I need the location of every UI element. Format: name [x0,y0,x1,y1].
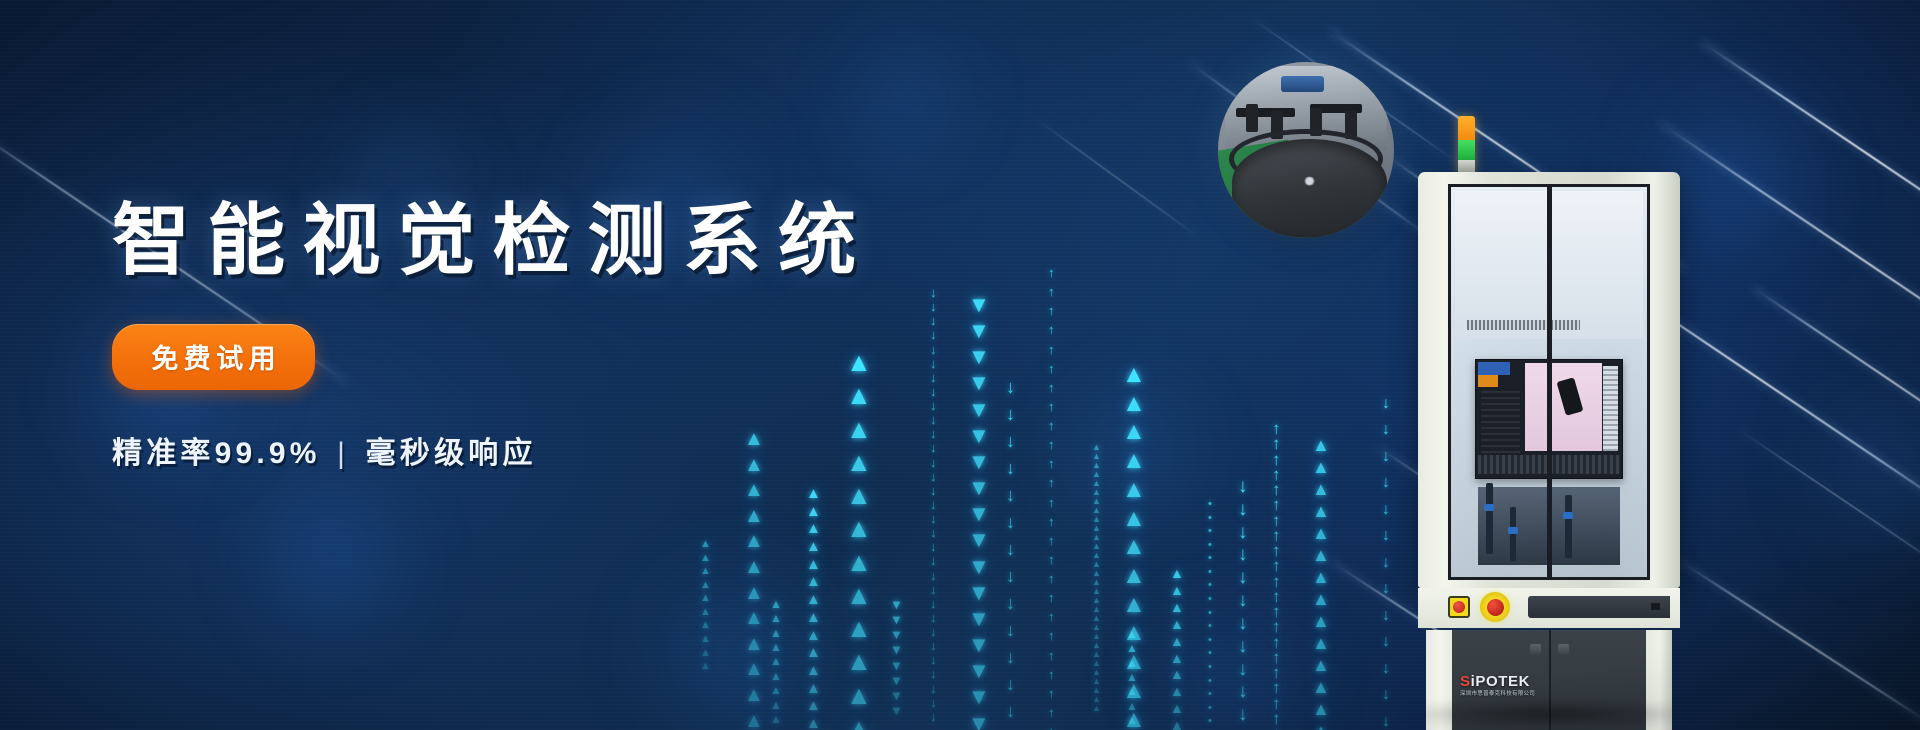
arrow-column-14: ▲▲▲▲▲▲▲▲ [1126,630,1138,730]
arrow-glyph: ↓ [1238,594,1248,609]
monitor-toolbar [1478,375,1499,387]
glow-blob-1 [232,478,432,642]
arrow-glyph: ▲ [806,647,821,659]
arrow-glyph: ▲ [1122,423,1146,442]
arrow-glyph: ↓ [930,500,937,510]
camera-arm-left [1486,483,1493,553]
arrow-glyph: ▲ [700,540,711,549]
brand-initial: S [1460,673,1471,690]
light-streak-6 [1659,122,1920,403]
arrow-glyph: ↑ [1272,575,1281,588]
rotary-station-inset-photo [1218,62,1394,238]
arrow-glyph: ↓ [930,712,937,722]
arrow-glyph: ▲ [744,509,764,525]
arrow-glyph: ▲ [1092,606,1101,613]
arrow-glyph: ▲ [1312,548,1330,562]
arrow-glyph: • [1208,690,1212,699]
arrow-glyph: ▼ [890,676,903,686]
arrow-glyph: ▲ [1312,592,1330,606]
machine-ground-shadow [1400,700,1700,728]
monitor-image-view [1525,363,1601,451]
arrow-glyph: ↑ [1048,498,1055,508]
arrow-glyph: ↑ [1048,287,1055,297]
arrow-glyph: ▲ [1312,702,1330,716]
arrow-glyph: ▼ [968,584,990,601]
arrow-glyph: ▲ [770,629,782,638]
arrow-glyph: ▲ [846,685,872,705]
arrow-glyph: ↑ [1272,666,1281,679]
arrow-glyph: ▲ [846,651,872,671]
arrow-glyph: ▲ [806,718,821,730]
arrow-glyph: ▲ [1170,602,1184,613]
arrow-glyph: ▲ [806,630,821,642]
glow-blob-8 [1780,380,1920,560]
arrow-glyph: ▲ [744,560,764,576]
brand-company-name: 深圳市思普泰克科技有限公司 [1460,692,1610,698]
arrow-glyph: ▲ [700,635,711,644]
arrow-glyph: ▲ [1170,636,1184,647]
panel-card-slot [1528,596,1670,618]
arrow-glyph: ▲ [1092,561,1101,568]
camera-arm-mid [1510,507,1516,562]
arrow-glyph: ↑ [1272,468,1281,481]
arrow-glyph: ↑ [1272,453,1281,466]
arrow-glyph: ▲ [1092,642,1101,649]
arrow-glyph: ↓ [1006,542,1015,556]
arrow-glyph: ↓ [1006,623,1015,637]
arrow-glyph: ▲ [700,567,711,576]
arrow-glyph: ↓ [1006,515,1015,529]
inset-photo-content [1218,62,1394,238]
arrow-glyph: ▲ [1092,705,1101,712]
arrow-glyph: ↓ [1382,424,1390,436]
arrow-glyph: ↑ [1272,544,1281,557]
arrow-glyph: ↑ [1272,437,1281,450]
arrow-glyph: ↑ [1272,483,1281,496]
arrow-glyph: ▲ [806,576,821,588]
arrow-glyph: ↓ [930,613,937,623]
arrow-glyph: ▲ [1126,687,1138,696]
arrow-glyph: ▲ [1122,624,1146,643]
arrow-glyph: ↓ [1382,689,1390,701]
tagline: 精准率99.9%|毫秒级响应 [112,428,1012,472]
arrow-glyph: ▲ [1312,460,1330,474]
arrow-glyph: ↓ [1382,663,1390,675]
arrow-glyph: ↓ [930,684,937,694]
arrow-glyph: ▲ [1312,614,1330,628]
arrow-glyph: ▲ [1092,687,1101,694]
arrow-glyph: ▲ [846,718,872,730]
tagline-accuracy: 精准率99.9% [112,437,321,470]
arrow-glyph: ▼ [890,661,903,671]
arrow-glyph: • [1208,500,1212,509]
arrow-glyph: ▲ [806,594,821,606]
arrow-glyph: ▲ [1092,462,1101,469]
arrow-glyph: ↓ [1006,677,1015,691]
arrow-column-10: ↓↓↓↓↓↓↓↓↓↓↓↓↓↓↓↓ [1238,480,1248,730]
arrow-glyph: ↑ [1048,689,1055,699]
arrow-glyph: ▲ [1092,552,1101,559]
arrow-column-13: ↓↓↓↓↓↓↓↓↓↓↓↓↓↓ [1382,398,1390,730]
arrow-glyph: ▲ [1092,696,1101,703]
arrow-glyph: ↓ [1006,596,1015,610]
arrow-glyph: ▲ [806,541,821,553]
arrow-glyph: • [1208,554,1212,563]
arrow-glyph: ▲ [1126,644,1138,653]
arrow-glyph: ↓ [1006,704,1015,718]
arrow-glyph: ▼ [968,715,990,730]
arrow-glyph: ▲ [1126,630,1138,639]
arrow-glyph: ▲ [806,559,821,571]
arrow-glyph: ▲ [846,585,872,605]
glow-blob-5 [1042,376,1222,524]
light-streak-12 [1038,120,1201,239]
arrow-glyph: ↑ [1048,651,1055,661]
arrow-glyph: ▲ [1126,702,1138,711]
arrow-glyph: ↓ [1006,488,1015,502]
arrow-glyph: ▲ [1092,489,1101,496]
arrow-glyph: ↑ [1048,421,1055,431]
cabinet-lock-left[interactable] [1530,644,1541,654]
arrow-glyph: ↑ [1272,514,1281,527]
arrow-glyph: ▲ [1126,673,1138,682]
arrow-glyph: • [1208,622,1212,631]
arrow-glyph: ↓ [930,669,937,679]
arrow-glyph: ↑ [1048,306,1055,316]
arrow-glyph: ▲ [846,552,872,572]
arrow-glyph: ▲ [1312,504,1330,518]
arrow-glyph: ▲ [1312,526,1330,540]
arrow-glyph: ▲ [846,485,872,505]
hero-copy: 智能视觉检测系统 免费试用 精准率99.9%|毫秒级响应 [112,178,1012,472]
arrow-glyph: • [1208,717,1212,726]
arrow-glyph: ↓ [1238,640,1248,655]
arrow-glyph: ▲ [1092,678,1101,685]
arrow-glyph: ▲ [1312,482,1330,496]
arrow-glyph: ▲ [806,506,821,518]
stack-light-green [1458,140,1475,160]
arrow-glyph: ▲ [744,586,764,602]
arrow-glyph: ▲ [1092,480,1101,487]
arrow-glyph: ▲ [1170,686,1184,697]
brand-wordmark: SiPOTEK [1460,674,1610,689]
arrow-glyph: ↓ [1382,477,1390,489]
cabinet-lock-right[interactable] [1558,644,1569,654]
arrow-glyph: ↓ [1238,617,1248,632]
arrow-glyph: ↑ [1048,593,1055,603]
arrow-glyph: ▼ [890,615,903,625]
arrow-glyph: ▲ [700,608,711,617]
arrow-glyph: ▼ [968,558,990,575]
arrow-glyph: ▲ [1092,579,1101,586]
arrow-column-11: ↑↑↑↑↑↑↑↑↑↑↑↑↑↑↑↑↑↑↑↑↑↑↑↑↑↑ [1272,422,1281,730]
arrow-glyph: ▼ [890,706,903,716]
arrow-glyph: ↓ [1238,571,1248,586]
arrow-glyph: ↓ [930,585,937,595]
arrow-glyph: ↑ [1048,555,1055,565]
arrow-glyph: ▲ [1092,534,1101,541]
monitor-result-panel [1603,366,1618,452]
arrow-glyph: • [1208,568,1212,577]
arrow-glyph: ▲ [1122,653,1146,672]
arrow-glyph: ▼ [890,600,903,610]
arrow-glyph: ↓ [1238,526,1248,541]
arrow-glyph: ▲ [1170,568,1184,579]
arrow-glyph: ▲ [744,637,764,653]
arrow-glyph: ▲ [1170,720,1184,730]
arrow-glyph: ▲ [1092,570,1101,577]
fitting-cap-a [1484,504,1494,511]
interior-vent-strip [1467,320,1581,330]
arrow-glyph: ↓ [1382,530,1390,542]
arrow-glyph: ▲ [1312,724,1330,730]
arrow-glyph: ↓ [930,641,937,651]
arrow-glyph: ▲ [1092,453,1101,460]
arrow-glyph: ↑ [1272,651,1281,664]
arrow-glyph: ↑ [1048,612,1055,622]
arrow-glyph: ↑ [1048,345,1055,355]
arrow-glyph: ↓ [1238,708,1248,723]
arrow-glyph: ▼ [890,630,903,640]
arrow-glyph: ▲ [1122,567,1146,586]
arrow-glyph: ▼ [890,645,903,655]
arrow-column-0: ▲▲▲▲▲▲▲▲▲▲▲▲▲▲ [806,488,821,730]
vision-inspection-machine: SiPOTEK 深圳市思普泰克科技有限公司 [1418,148,1680,730]
hero-banner: ▲▲▲▲▲▲▲▲▲▲▲▲▲▲▲▲▲▲▲▲▲▲▲▲▲▲▲↓↓↓↓↓↓↓↓↓↓↓↓↓… [0,0,1920,730]
glow-blob-6 [1140,600,1330,730]
arrow-glyph: ▲ [806,488,821,500]
arrow-glyph: ▲ [1312,658,1330,672]
arrow-glyph: ▲ [1092,624,1101,631]
arrow-glyph: ▲ [806,683,821,695]
arrow-glyph: ↓ [930,599,937,609]
arrow-glyph: ▲ [1122,481,1146,500]
arrow-glyph: • [1208,541,1212,550]
arrow-column-8: ▲▲▲▲▲▲▲▲▲▲ [1170,568,1184,730]
arrow-glyph: ▲ [770,672,782,681]
arrow-glyph: ▼ [968,479,990,496]
arrow-column-12: ▲▲▲▲▲▲▲▲▲▲▲▲▲▲▲▲▲▲ [1312,438,1330,730]
arrow-column-5: ↑↑↑↑↑↑↑↑↑↑↑↑↑↑↑↑↑↑↑↑↑↑↑↑↑↑↑↑↑↑↑↑↑ [1048,268,1055,730]
machine-upper-cabinet [1418,172,1680,588]
arrow-glyph: ↓ [1238,548,1248,563]
arrow-glyph: ▲ [1092,588,1101,595]
arrow-glyph: ↓ [1382,716,1390,728]
arrow-glyph: ↑ [1048,708,1055,718]
arrow-glyph: ▲ [1122,510,1146,529]
arrow-column-9: ••••••••••••••••••••• [1208,500,1212,730]
arrow-glyph: ↓ [1382,451,1390,463]
arrow-glyph: ▲ [1092,651,1101,658]
arrow-glyph: ↓ [1382,398,1390,410]
glow-blob-2 [620,560,850,730]
arrow-glyph: • [1208,677,1212,686]
arrow-glyph: ▲ [700,621,711,630]
arrow-glyph: ▼ [968,688,990,705]
arrow-glyph: ↑ [1272,559,1281,572]
arrow-glyph: ↑ [1272,712,1281,725]
arrow-glyph: ↑ [1048,670,1055,680]
arrow-glyph: ↑ [1048,478,1055,488]
glass-door-mullion [1547,187,1552,577]
arrow-glyph: ↑ [1048,517,1055,527]
arrow-glyph: ▼ [968,531,990,548]
light-streak-13 [1740,430,1920,577]
arrow-glyph: ▲ [744,662,764,678]
arrow-glyph: ▲ [1122,538,1146,557]
arrow-glyph: ↓ [1382,636,1390,648]
fitting-cap-b [1508,527,1518,534]
arrow-glyph: ↑ [1048,459,1055,469]
arrow-glyph: ↓ [930,528,937,538]
arrow-glyph: ↑ [1048,364,1055,374]
arrow-glyph: ▲ [744,534,764,550]
arrow-glyph: ↓ [1006,650,1015,664]
arrow-glyph: ▲ [1092,669,1101,676]
arrow-glyph: ↑ [1048,268,1055,278]
arrow-glyph: ▼ [890,691,903,701]
arrow-glyph: ↓ [930,514,937,524]
arrow-glyph: ▲ [806,523,821,535]
arrow-column-17: ▲▲▲▲▲▲▲▲▲▲ [700,540,711,676]
arrow-glyph: ▲ [846,518,872,538]
arrow-glyph: ↓ [930,655,937,665]
arrow-glyph: • [1208,595,1212,604]
arrow-glyph: ▲ [1170,585,1184,596]
arrow-glyph: ▲ [806,665,821,677]
arrow-glyph: ↑ [1272,529,1281,542]
arrow-glyph: ▲ [744,611,764,627]
arrow-glyph: ▲ [1312,636,1330,650]
arrow-glyph: ▲ [1126,659,1138,668]
arrow-glyph: ↓ [930,698,937,708]
arrow-glyph: ▲ [1122,395,1146,414]
arrow-glyph: ↑ [1272,605,1281,618]
tagline-divider: | [337,437,349,471]
arrow-glyph: ▲ [1092,543,1101,550]
arrow-glyph: ▼ [968,505,990,522]
arrow-column-18: ▼▼▼▼▼▼▼▼ [890,600,903,721]
emergency-stop-button[interactable] [1480,592,1510,622]
arrow-glyph: ↑ [1272,636,1281,649]
arrow-glyph: ↑ [1048,536,1055,546]
arrow-glyph: ↓ [1238,503,1248,518]
arrow-glyph: ↑ [1272,590,1281,603]
arrow-glyph: ▲ [1170,619,1184,630]
arrow-glyph: ▲ [1122,711,1146,730]
arrow-glyph: ▼ [968,610,990,627]
arrow-column-16: ▲▲▲▲▲▲▲▲▲▲▲▲ [744,432,764,730]
arrow-glyph: ▲ [1312,438,1330,452]
arrow-column-6: ▲▲▲▲▲▲▲▲▲▲▲▲▲▲▲▲▲▲▲▲▲▲▲▲▲▲▲▲▲▲ [1092,444,1101,714]
arrow-glyph: ▲ [806,700,821,712]
arrow-glyph: ▲ [1092,516,1101,523]
arrow-glyph: ▲ [1126,716,1138,725]
arrow-glyph: ▲ [744,714,764,730]
arrow-glyph: ▲ [1170,653,1184,664]
arrow-glyph: ▲ [770,657,782,666]
machine-control-panel [1418,588,1680,628]
arrow-glyph: • [1208,636,1212,645]
arrow-glyph: ▲ [1092,660,1101,667]
machine-glass-enclosure [1448,184,1650,580]
arrow-glyph: ↓ [1238,685,1248,700]
inspected-part-silhouette [1556,377,1583,416]
arrow-glyph: ▲ [1312,680,1330,694]
light-streak-5 [1699,40,1920,277]
monitor-parameter-list [1481,391,1519,462]
arrow-glyph: ▲ [700,554,711,563]
arrow-glyph: • [1208,609,1212,618]
free-trial-button[interactable]: 免费试用 [112,324,315,390]
arrow-glyph: ↓ [930,627,937,637]
arrow-glyph: ↑ [1048,440,1055,450]
arrow-glyph: ↓ [930,571,937,581]
arrow-glyph: ↓ [1238,480,1248,495]
arrow-glyph: • [1208,514,1212,523]
arrow-column-7: ▲▲▲▲▲▲▲▲▲▲▲▲▲▲▲▲▲ [1122,366,1146,730]
glow-blob-9 [826,28,986,159]
arrow-glyph: ▲ [1170,669,1184,680]
stack-light [1458,116,1475,174]
arrow-glyph: ↑ [1272,681,1281,694]
arrow-glyph: ↓ [1382,610,1390,622]
arrow-glyph: ↓ [1382,504,1390,516]
camera-arm-right [1565,495,1572,557]
arrow-glyph: ↑ [1048,631,1055,641]
arrow-glyph: ▲ [770,686,782,695]
arrow-glyph: ▲ [1092,615,1101,622]
arrow-glyph: • [1208,581,1212,590]
arrow-glyph: ▲ [700,594,711,603]
page-title: 智能视觉检测系统 [112,178,1012,290]
arrow-glyph: ▲ [806,612,821,624]
arrow-glyph: ▲ [1092,597,1101,604]
light-streak-11 [1680,560,1920,725]
light-streak-8 [1751,286,1920,472]
arrow-glyph: ↓ [930,556,937,566]
arrow-glyph: ↓ [930,486,937,496]
arrow-glyph: ↑ [1272,620,1281,633]
arrow-glyph: ↑ [1048,325,1055,335]
arrow-glyph: ↓ [1006,569,1015,583]
arrow-glyph: ▲ [1092,507,1101,514]
arrow-glyph: ▲ [1122,682,1146,701]
arrow-glyph: ▲ [1092,498,1101,505]
arrow-glyph: • [1208,649,1212,658]
arrow-glyph: ▲ [744,688,764,704]
power-switch[interactable] [1448,596,1470,618]
arrow-glyph: ↑ [1048,383,1055,393]
arrow-glyph: ▲ [770,715,782,724]
arrow-glyph: ↑ [1048,402,1055,412]
arrow-glyph: ▲ [1122,452,1146,471]
monitor-titlebar [1478,362,1510,375]
arrow-glyph: • [1208,527,1212,536]
arrow-glyph: ▲ [770,701,782,710]
arrow-glyph: ▲ [1170,703,1184,714]
arrow-glyph: ▲ [1092,633,1101,640]
arrow-glyph: ▲ [770,600,782,609]
fitting-cap-c [1563,512,1573,519]
arrow-glyph: ▲ [700,649,711,658]
arrow-glyph: ↓ [930,542,937,552]
brand-name: iPOTEK [1471,673,1530,690]
arrow-glyph: ▼ [968,662,990,679]
brand-logo: SiPOTEK 深圳市思普泰克科技有限公司 [1460,674,1610,698]
arrow-glyph: • [1208,704,1212,713]
arrow-glyph: ▲ [1092,471,1101,478]
